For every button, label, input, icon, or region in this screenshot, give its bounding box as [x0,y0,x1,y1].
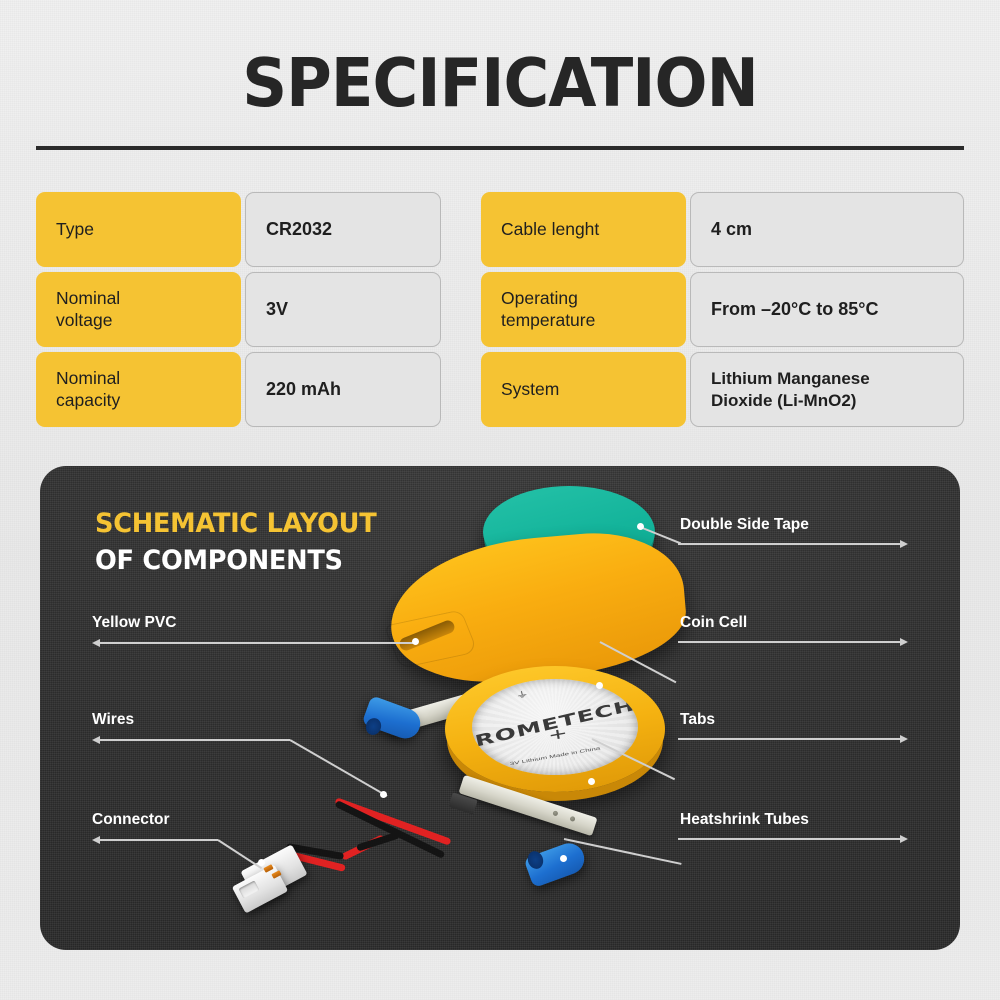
spec-value-system: Lithium Manganese Dioxide (Li-MnO2) [690,352,964,427]
page-title: SPECIFICATION [35,44,965,122]
column-gap [441,352,481,427]
callout-arrow-icon [900,638,908,646]
callout-endpoint-dot [380,791,387,798]
column-gap [441,272,481,347]
callout-arrow-icon [92,736,100,744]
coin-cell-part: ⏚ ROMETECH + 3V Lithium Made in China [445,666,665,792]
page-title-container: SPECIFICATION [0,44,1000,122]
coin-cell-logo-icon: ⏚ [514,687,529,701]
tab-weld-dot [552,810,558,816]
spec-table: Type CR2032 Cable lenght 4 cm Nominal vo… [36,192,964,427]
callout-label-yellow-pvc: Yellow PVC [92,614,176,632]
callout-endpoint-dot [588,778,595,785]
callout-endpoint-dot [637,523,644,530]
callout-leader-line [678,838,900,840]
spec-label-operating-temperature: Operating temperature [481,272,686,347]
callout-leader-line [678,738,900,740]
callout-leader-line [678,641,900,643]
specification-infographic: SPECIFICATION Type CR2032 Cable lenght 4… [0,0,1000,1000]
title-divider [36,146,964,150]
callout-arrow-icon [900,735,908,743]
callout-endpoint-dot [258,859,265,866]
spec-label-nominal-capacity: Nominal capacity [36,352,241,427]
callout-leader-line [100,739,290,741]
callout-arrow-icon [92,836,100,844]
column-gap [441,192,481,267]
spec-value-nominal-voltage: 3V [245,272,441,347]
spec-label-system: System [481,352,686,427]
callout-label-connector: Connector [92,811,170,829]
callout-label-tabs: Tabs [680,711,715,729]
spec-label-cable-length: Cable lenght [481,192,686,267]
callout-leader-line [678,543,900,545]
wire-black-twist [356,831,400,851]
spec-value-cable-length: 4 cm [690,192,964,267]
spec-value-operating-temperature: From –20°C to 85°C [690,272,964,347]
callout-label-double-side-tape: Double Side Tape [680,516,809,534]
coin-cell-face: ⏚ ROMETECH + 3V Lithium Made in China [472,679,638,775]
callout-leader-line [100,642,416,644]
coin-cell-micro-text: 3V Lithium Made in China [509,745,600,766]
callout-endpoint-dot [412,638,419,645]
callout-leader-line [100,839,218,841]
callout-label-heatshrink-tubes: Heatshrink Tubes [680,811,809,829]
callout-endpoint-dot [596,682,603,689]
spec-value-type: CR2032 [245,192,441,267]
callout-label-coin-cell: Coin Cell [680,614,747,632]
tab-weld-dot [569,816,575,822]
schematic-panel: SCHEMATIC LAYOUT OF COMPONENTS ⏚ ROMETEC… [40,466,960,950]
callout-arrow-icon [900,540,908,548]
spec-value-nominal-capacity: 220 mAh [245,352,441,427]
spec-label-nominal-voltage: Nominal voltage [36,272,241,347]
callout-endpoint-dot [560,855,567,862]
callout-arrow-icon [900,835,908,843]
spec-label-type: Type [36,192,241,267]
exploded-diagram: ⏚ ROMETECH + 3V Lithium Made in China [40,466,960,950]
callout-label-wires: Wires [92,711,134,729]
callout-arrow-icon [92,639,100,647]
